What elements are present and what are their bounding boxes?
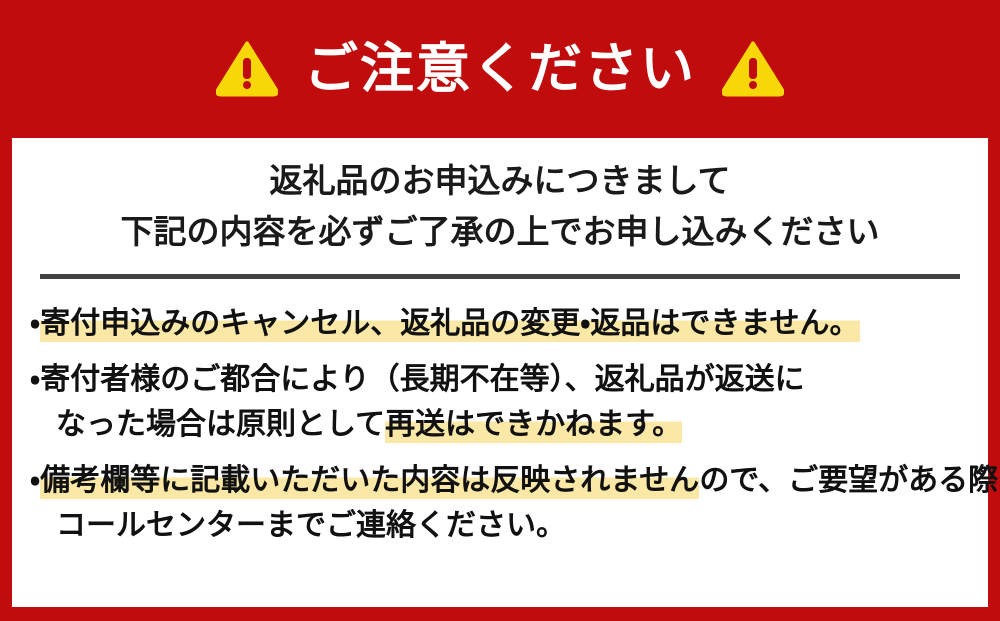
list-item: ・寄付者様のご都合により（長期不在等）、返礼品が返送に なった場合は原則として再… [12,357,988,448]
bullet-text: 寄付者様のご都合により（長期不在等）、返礼品が返送に [40,363,804,396]
intro-block: 返礼品のお申込みにつきまして 下記の内容を必ずご了承の上でお申し込みください [12,138,988,248]
bullet-text-continued: コールセンターまでご連絡ください。 [30,503,566,549]
notice-bullet-list: ・寄付申込みのキャンセル、返礼品の変更・返品はできません。 ・寄付者様のご都合に… [12,279,988,549]
notice-card: ご注意ください 返礼品のお申込みにつきまして 下記の内容を必ずご了承の上でお申し… [0,0,1000,621]
intro-line-2: 下記の内容を必ずご了承の上でお申し込みください [12,215,988,248]
bullet-marker: ・ [30,307,40,340]
bullet-marker: ・ [30,464,40,497]
bullet-highlight-text: 寄付申込みのキャンセル、返礼品の変更・返品はできません。 [40,307,859,342]
notice-body: 返礼品のお申込みにつきまして 下記の内容を必ずご了承の上でお申し込みください ・… [12,138,988,607]
bullet-text: ので、ご要望がある際は [699,464,1000,497]
list-item: ・備考欄等に記載いただいた内容は反映されませんので、ご要望がある際は コールセン… [12,458,988,549]
bullet-highlight-text: 備考欄等に記載いただいた内容は反映されません [40,464,699,499]
warning-triangle-icon [216,41,278,97]
header-banner: ご注意ください [0,0,1000,138]
list-item: ・寄付申込みのキャンセル、返礼品の変更・返品はできません。 [12,301,988,347]
warning-triangle-icon [722,41,784,97]
bullet-marker: ・ [30,363,40,396]
bullet-highlight-text: 再送はできかねます。 [385,408,682,443]
intro-line-1: 返礼品のお申込みにつきまして [12,164,988,197]
page-title: ご注意ください [304,42,696,96]
bullet-text-continued: なった場合は原則として [30,402,385,448]
